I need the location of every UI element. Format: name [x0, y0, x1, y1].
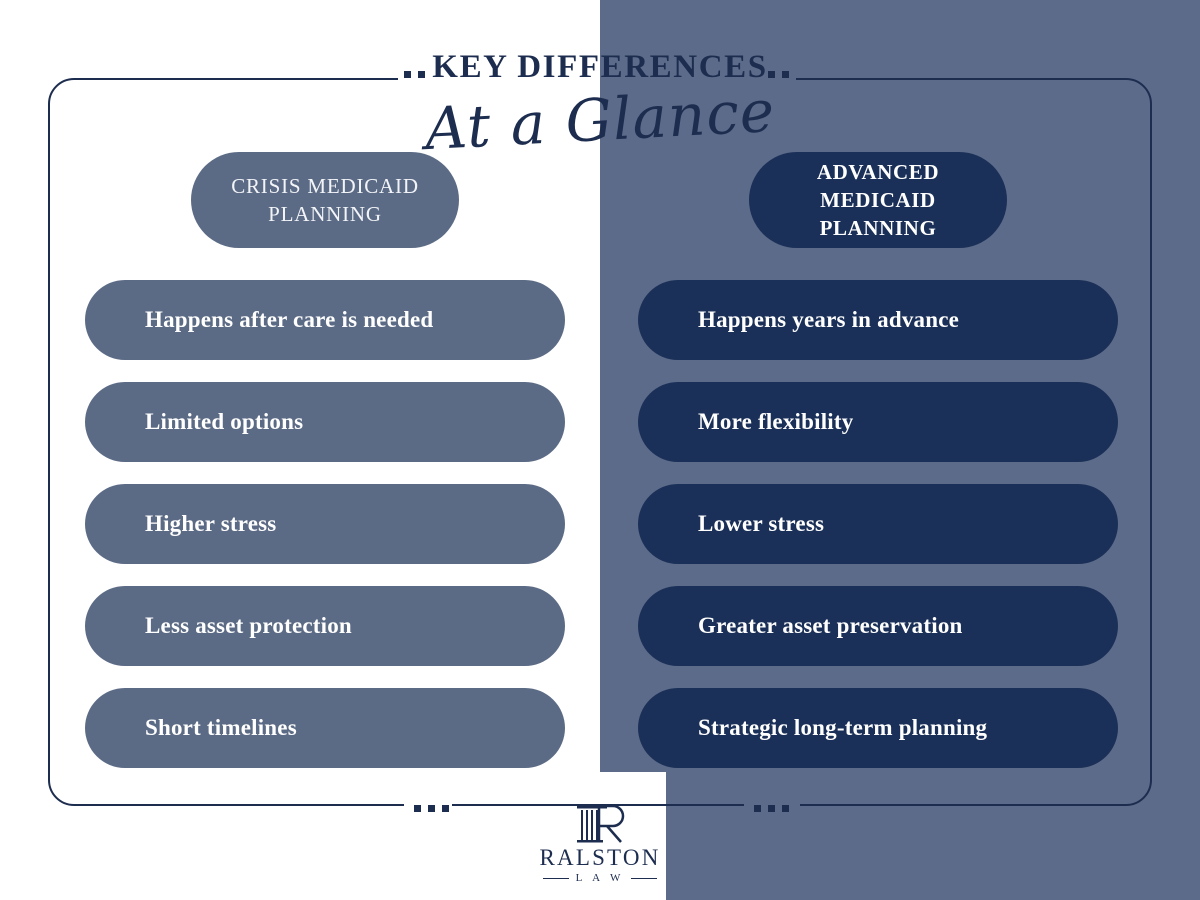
- column-crisis-medicaid-planning: CRISIS MEDICAIDPLANNING Happens after ca…: [85, 152, 565, 768]
- brand-subtitle-label: L A W: [576, 872, 625, 884]
- list-item[interactable]: Short timelines: [85, 688, 565, 768]
- title-dots-left: [404, 71, 425, 78]
- column-header-advanced: ADVANCEDMEDICAIDPLANNING: [749, 152, 1007, 248]
- brand-name: RALSTON: [523, 844, 677, 871]
- list-item[interactable]: Strategic long-term planning: [638, 688, 1118, 768]
- list-item[interactable]: Higher stress: [85, 484, 565, 564]
- list-item[interactable]: Limited options: [85, 382, 565, 462]
- square-dot-icon: [428, 805, 435, 812]
- footer-dots-left: [414, 805, 449, 812]
- infographic-canvas: KEY DIFFERENCES At a Glance CRISIS MEDIC…: [0, 0, 1200, 900]
- column-advanced-medicaid-planning: ADVANCEDMEDICAIDPLANNING Happens years i…: [638, 152, 1118, 768]
- column-header-advanced-label: ADVANCEDMEDICAIDPLANNING: [817, 158, 939, 242]
- column-header-crisis-line2: PLANNING: [268, 202, 382, 226]
- column-header-crisis-label: CRISIS MEDICAIDPLANNING: [231, 172, 419, 228]
- column-header-advanced-line2: MEDICAID: [820, 188, 936, 212]
- brand-subtitle: L A W: [523, 872, 677, 884]
- column-header-advanced-line3: PLANNING: [820, 216, 937, 240]
- column-header-crisis: CRISIS MEDICAIDPLANNING: [191, 152, 459, 248]
- list-item[interactable]: More flexibility: [638, 382, 1118, 462]
- title-dots-right: [768, 71, 789, 78]
- square-dot-icon: [442, 805, 449, 812]
- list-item[interactable]: Happens years in advance: [638, 280, 1118, 360]
- square-dot-icon: [768, 71, 775, 78]
- logo-rule-right: [631, 878, 657, 879]
- list-item[interactable]: Lower stress: [638, 484, 1118, 564]
- column-header-crisis-line1: CRISIS MEDICAID: [231, 174, 419, 198]
- square-dot-icon: [418, 71, 425, 78]
- square-dot-icon: [414, 805, 421, 812]
- square-dot-icon: [754, 805, 761, 812]
- square-dot-icon: [768, 805, 775, 812]
- square-dot-icon: [782, 805, 789, 812]
- footer-dots-right: [754, 805, 789, 812]
- list-item[interactable]: Less asset protection: [85, 586, 565, 666]
- pill-stack-crisis: Happens after care is needed Limited opt…: [85, 280, 565, 768]
- ralston-monogram-icon: [523, 800, 677, 844]
- list-item[interactable]: Greater asset preservation: [638, 586, 1118, 666]
- brand-logo: RALSTON L A W: [523, 800, 677, 884]
- column-header-advanced-line1: ADVANCED: [817, 160, 939, 184]
- square-dot-icon: [404, 71, 411, 78]
- list-item[interactable]: Happens after care is needed: [85, 280, 565, 360]
- square-dot-icon: [782, 71, 789, 78]
- pill-stack-advanced: Happens years in advance More flexibilit…: [638, 280, 1118, 768]
- logo-rule-left: [543, 878, 569, 879]
